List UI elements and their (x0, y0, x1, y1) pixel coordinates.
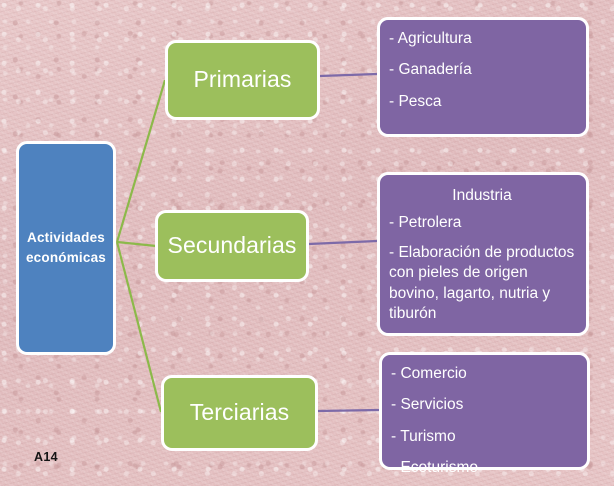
root-node-label-line-2: económicas (26, 250, 106, 265)
detail-item: - Pesca (389, 92, 575, 112)
connector-terciarias-to-detail (318, 410, 379, 411)
branch-node-terciarias[interactable]: Terciarias (161, 375, 318, 451)
detail-item: - Turismo (391, 427, 576, 447)
detail-item: - Agricultura (389, 29, 575, 49)
diagram-canvas: Actividades económicas Primarias - Agric… (0, 0, 614, 486)
branch-node-terciarias-label: Terciarias (190, 400, 289, 425)
detail-node-primarias[interactable]: - Agricultura - Ganadería - Pesca (377, 17, 589, 137)
page-tag: A14 (34, 450, 58, 464)
detail-item: - Comercio (391, 364, 576, 384)
detail-node-secundarias[interactable]: Industria - Petrolera - Elaboración de p… (377, 172, 589, 336)
detail-node-terciarias[interactable]: - Comercio - Servicios - Turismo - Ecotu… (379, 352, 590, 470)
branch-node-secundarias[interactable]: Secundarias (155, 210, 309, 282)
connector-root-to-secundarias (117, 242, 156, 246)
root-node-label-line-1: Actividades (27, 230, 105, 245)
branch-node-secundarias-label: Secundarias (168, 233, 297, 258)
detail-heading-industria: Industria (389, 186, 575, 206)
detail-item: - Petrolera (389, 213, 575, 233)
detail-item: - Ecoturismo (391, 458, 576, 478)
branch-node-primarias[interactable]: Primarias (165, 40, 320, 120)
detail-item: - Servicios (391, 395, 576, 415)
connector-secundarias-to-detail (309, 241, 377, 244)
branch-node-primarias-label: Primarias (193, 67, 291, 92)
root-node-label: Actividades económicas (26, 228, 106, 267)
detail-item: - Ganadería (389, 60, 575, 80)
connector-primarias-to-detail (320, 74, 377, 76)
detail-item: - Elaboración de productos con pieles de… (389, 243, 575, 325)
root-node-actividades-economicas[interactable]: Actividades económicas (16, 141, 116, 355)
